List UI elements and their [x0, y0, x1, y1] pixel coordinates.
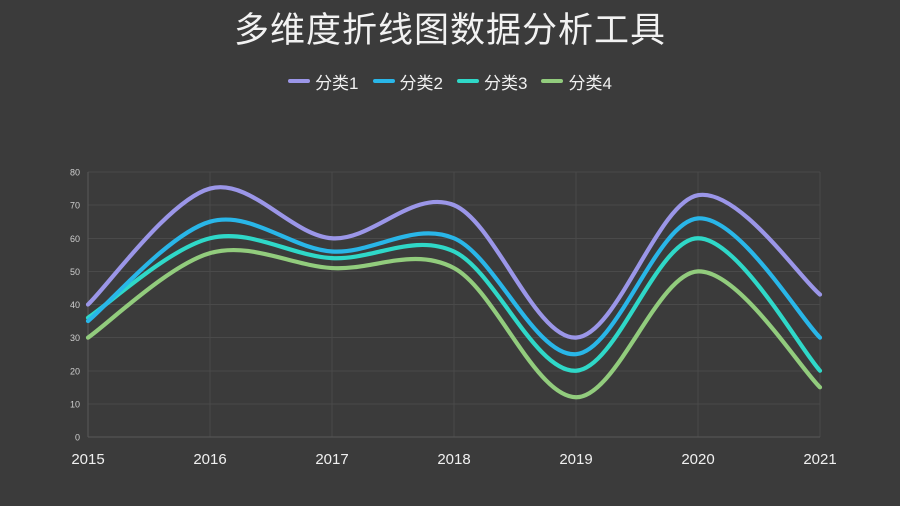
x-axis-tick-label: 2021 [803, 451, 836, 468]
y-axis-tick-label: 70 [70, 201, 80, 211]
y-axis-tick-label: 30 [70, 333, 80, 343]
x-axis-tick-label: 2017 [315, 451, 348, 468]
y-axis-tick-label: 80 [70, 168, 80, 178]
y-axis-tick-label: 40 [70, 300, 80, 310]
x-axis-tick-label: 2019 [559, 451, 592, 468]
y-axis-tick-label: 20 [70, 366, 80, 376]
line-chart-plot: 01020304050607080 2015201620172018201920… [0, 0, 900, 506]
y-axis-tick-label: 0 [75, 433, 80, 443]
x-axis-tick-label: 2016 [193, 451, 226, 468]
chart-svg: 01020304050607080 2015201620172018201920… [0, 0, 900, 506]
gridlines-group [88, 172, 820, 437]
x-axis-tick-label: 2020 [681, 451, 714, 468]
y-axis-tick-label: 60 [70, 234, 80, 244]
y-axis-tick-label: 10 [70, 399, 80, 409]
x-axis-tick-label: 2015 [71, 451, 104, 468]
y-axis-tick-labels: 01020304050607080 [70, 168, 80, 443]
chart-page: 多维度折线图数据分析工具 分类1分类2分类3分类4 01020304050607… [0, 0, 900, 506]
y-axis-tick-label: 50 [70, 267, 80, 277]
x-axis-tick-labels: 2015201620172018201920202021 [71, 451, 836, 468]
x-axis-tick-label: 2018 [437, 451, 470, 468]
